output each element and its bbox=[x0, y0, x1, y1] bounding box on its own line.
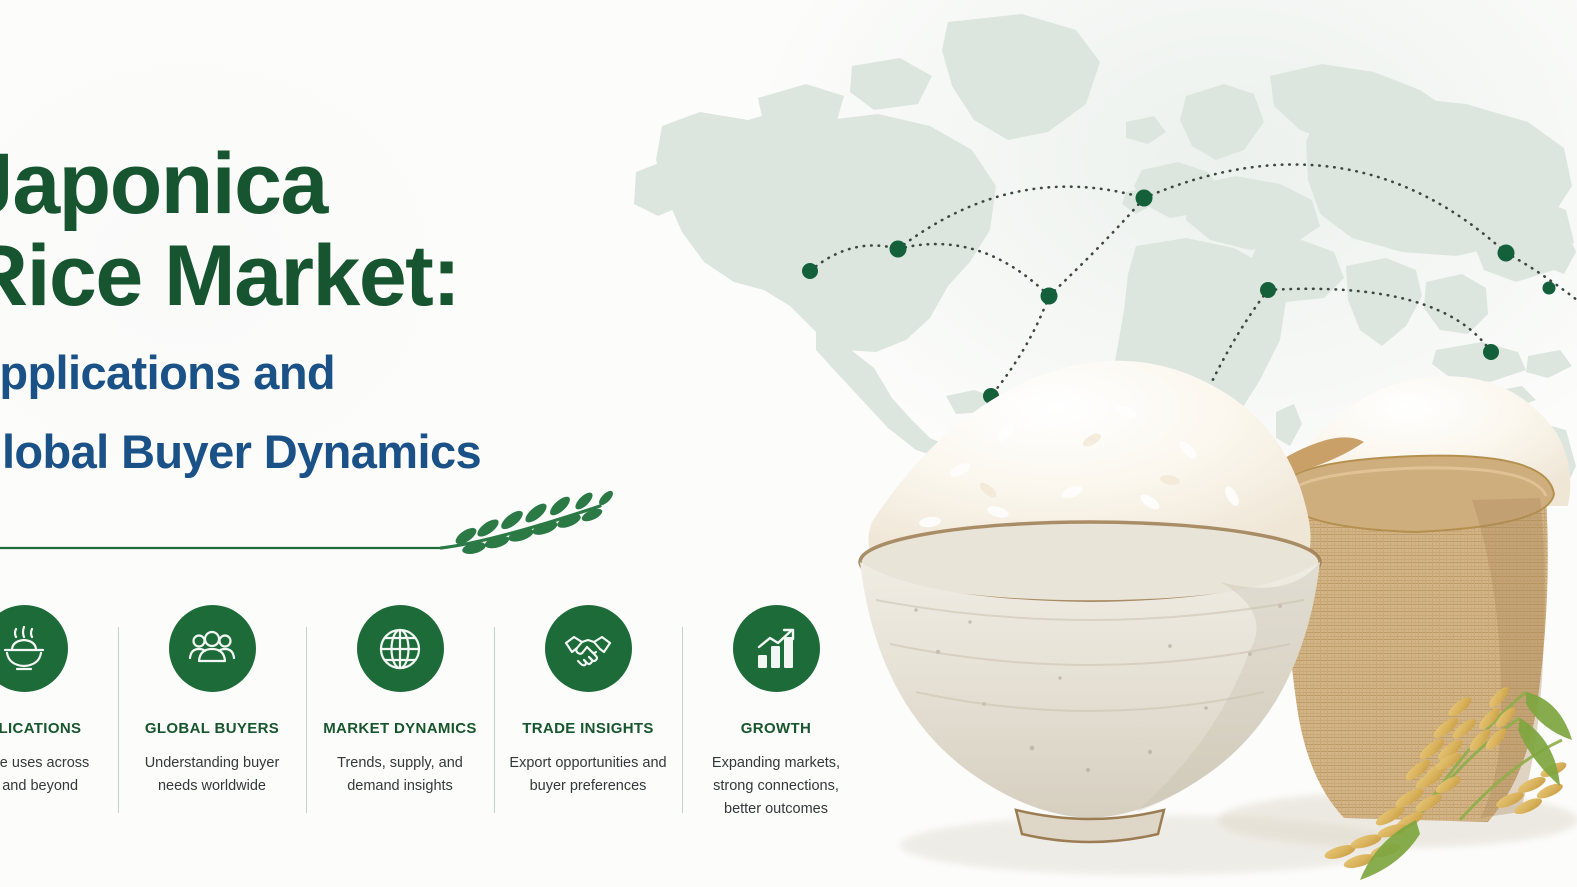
feature-card-label: GROWTH bbox=[741, 720, 811, 737]
feature-card-label: APPLICATIONS bbox=[0, 720, 81, 737]
map-nodes bbox=[802, 190, 1556, 412]
rice-bowl-icon bbox=[0, 605, 68, 692]
world-map bbox=[630, 0, 1577, 560]
feature-card-trade-insights[interactable]: TRADE INSIGHTS Export opportunities and … bbox=[494, 605, 682, 798]
rice-product-photo bbox=[820, 300, 1577, 887]
feature-card-market-dynamics[interactable]: MARKET DYNAMICS Trends, supply, and dema… bbox=[306, 605, 494, 798]
feature-card-label: TRADE INSIGHTS bbox=[522, 720, 654, 737]
map-landmasses bbox=[634, 14, 1576, 560]
feature-card-label: GLOBAL BUYERS bbox=[145, 720, 279, 737]
feature-card-description: Diverse uses across food and beyond bbox=[0, 752, 104, 798]
globe-icon bbox=[357, 605, 444, 692]
ceramic-bowl-of-rice bbox=[860, 361, 1320, 842]
feature-card-applications[interactable]: APPLICATIONS Diverse uses across food an… bbox=[0, 605, 118, 798]
title-divider-rule bbox=[0, 490, 640, 580]
rice-stalks bbox=[1321, 684, 1577, 880]
page-title-line-1: Japonica bbox=[0, 138, 626, 230]
feature-card-strip: APPLICATIONS Diverse uses across food an… bbox=[0, 605, 870, 845]
page-title-line-2: Rice Market: bbox=[0, 230, 626, 322]
map-routes bbox=[810, 164, 1577, 403]
bowl-shadow bbox=[900, 815, 1400, 875]
feature-card-description: Export opportunities and buyer preferenc… bbox=[508, 752, 668, 798]
feature-card-description: Trends, supply, and demand insights bbox=[320, 752, 480, 798]
feature-card-description: Understanding buyer needs worldwide bbox=[132, 752, 292, 798]
feature-card-description: Expanding markets, strong connections, b… bbox=[696, 752, 856, 821]
wheat-stalk-icon bbox=[441, 490, 615, 556]
infographic-canvas: Japonica Rice Market: Applications and G… bbox=[0, 0, 1577, 887]
page-subtitle-line-1: Applications and bbox=[0, 344, 626, 401]
feature-card-label: MARKET DYNAMICS bbox=[323, 720, 477, 737]
grain-clusters bbox=[1321, 684, 1577, 875]
handshake-icon bbox=[545, 605, 632, 692]
header-title-block: Japonica Rice Market: Applications and G… bbox=[0, 138, 626, 481]
page-subtitle-line-2: Global Buyer Dynamics bbox=[0, 423, 626, 480]
feature-card-global-buyers[interactable]: GLOBAL BUYERS Understanding buyer needs … bbox=[118, 605, 306, 798]
burlap-sack-of-rice bbox=[1258, 376, 1570, 822]
growth-chart-icon bbox=[733, 605, 820, 692]
group-people-icon bbox=[169, 605, 256, 692]
sack-shadow bbox=[1218, 792, 1577, 848]
feature-card-growth[interactable]: GROWTH Expanding markets, strong connect… bbox=[682, 605, 870, 821]
